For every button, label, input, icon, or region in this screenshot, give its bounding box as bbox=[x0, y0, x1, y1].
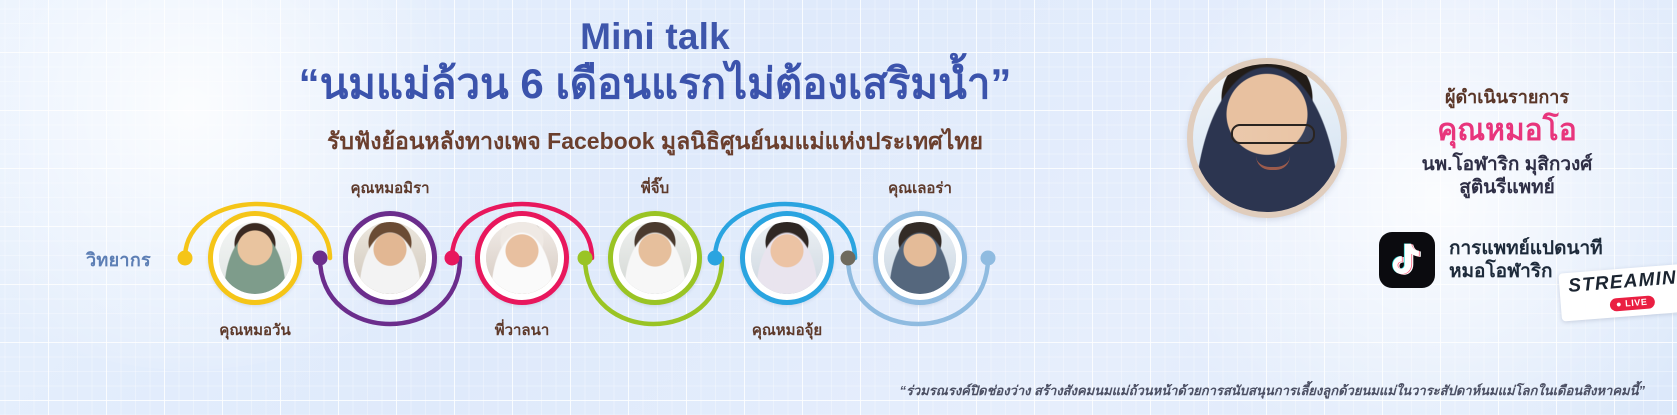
live-badge: ● LIVE bbox=[1610, 295, 1655, 311]
host-panel: ผู้ดำเนินรายการ คุณหมอโอ นพ.โอฬาริก มุสิ… bbox=[1157, 0, 1677, 415]
speaker-name: คุณเลอร่า bbox=[888, 176, 952, 200]
timeline-dot-3 bbox=[445, 251, 460, 266]
speaker-timeline: คุณหมอวัน คุณหมอมิรา พี่วาลนา bbox=[0, 178, 1110, 353]
portrait-figure bbox=[884, 222, 956, 294]
speaker-name: คุณหมอมิรา bbox=[350, 176, 429, 200]
timeline-dot-7 bbox=[981, 251, 996, 266]
timeline-dot-1 bbox=[178, 251, 193, 266]
portrait-figure bbox=[751, 222, 823, 294]
portrait-figure bbox=[619, 222, 691, 294]
host-full-name: นพ.โอฬาริก มุสิกวงศ์ bbox=[1357, 153, 1657, 176]
speaker-name: คุณหมอวัน bbox=[219, 318, 290, 342]
kicker-text: Mini talk bbox=[180, 18, 1130, 57]
host-avatar[interactable] bbox=[1187, 58, 1347, 218]
timeline-dot-2 bbox=[313, 251, 328, 266]
host-smile-icon bbox=[1256, 156, 1290, 170]
timeline-dot-5 bbox=[708, 251, 723, 266]
subtitle-text: รับฟังย้อนหลังทางเพจ Facebook มูลนิธิศูน… bbox=[180, 124, 1130, 160]
host-role-label: ผู้ดำเนินรายการ bbox=[1357, 82, 1657, 111]
headline-block: Mini talk “นมแม่ล้วน 6 เดือนแรกไม่ต้องเส… bbox=[180, 18, 1130, 160]
portrait-figure bbox=[354, 222, 426, 294]
speaker-name: พี่จิ๊บ bbox=[641, 176, 669, 200]
portrait-figure bbox=[219, 222, 291, 294]
avatar-image bbox=[884, 222, 956, 294]
host-details: ผู้ดำเนินรายการ คุณหมอโอ นพ.โอฬาริก มุสิ… bbox=[1357, 82, 1657, 199]
speaker-name: คุณหมอจุ้ย bbox=[752, 318, 822, 342]
host-glasses-icon bbox=[1231, 124, 1315, 144]
avatar-image bbox=[619, 222, 691, 294]
tiktok-icon[interactable] bbox=[1379, 232, 1435, 288]
host-portrait-image bbox=[1193, 64, 1341, 212]
streaming-badge: STREAMING ● LIVE bbox=[1558, 262, 1677, 321]
timeline-dot-4 bbox=[578, 251, 593, 266]
avatar-image bbox=[354, 222, 426, 294]
speaker-avatar[interactable] bbox=[608, 211, 702, 305]
host-nickname: คุณหมอโอ bbox=[1357, 115, 1657, 147]
speaker-avatar[interactable] bbox=[208, 211, 302, 305]
channel-name-line1: การแพทย์แปดนาที bbox=[1449, 237, 1603, 260]
footer-campaign-note: “ร่วมรณรงค์ปิดช่องว่าง สร้างสังคมนมแม่ถ้… bbox=[845, 380, 1645, 401]
speaker-avatar[interactable] bbox=[475, 211, 569, 305]
host-specialty: สูตินรีแพทย์ bbox=[1357, 176, 1657, 199]
speaker-name: พี่วาลนา bbox=[495, 318, 550, 342]
speaker-avatar[interactable] bbox=[873, 211, 967, 305]
timeline-dot-6 bbox=[841, 251, 856, 266]
portrait-figure bbox=[486, 222, 558, 294]
tiktok-note-glyph bbox=[1379, 232, 1435, 288]
avatar-image bbox=[751, 222, 823, 294]
streaming-label: STREAMING bbox=[1568, 266, 1677, 298]
avatar-image bbox=[219, 222, 291, 294]
speaker-avatar[interactable] bbox=[343, 211, 437, 305]
banner-root: Mini talk “นมแม่ล้วน 6 เดือนแรกไม่ต้องเส… bbox=[0, 0, 1677, 415]
avatar-image bbox=[486, 222, 558, 294]
page-title: “นมแม่ล้วน 6 เดือนแรกไม่ต้องเสริมน้ำ” bbox=[180, 59, 1130, 109]
speaker-avatar[interactable] bbox=[740, 211, 834, 305]
